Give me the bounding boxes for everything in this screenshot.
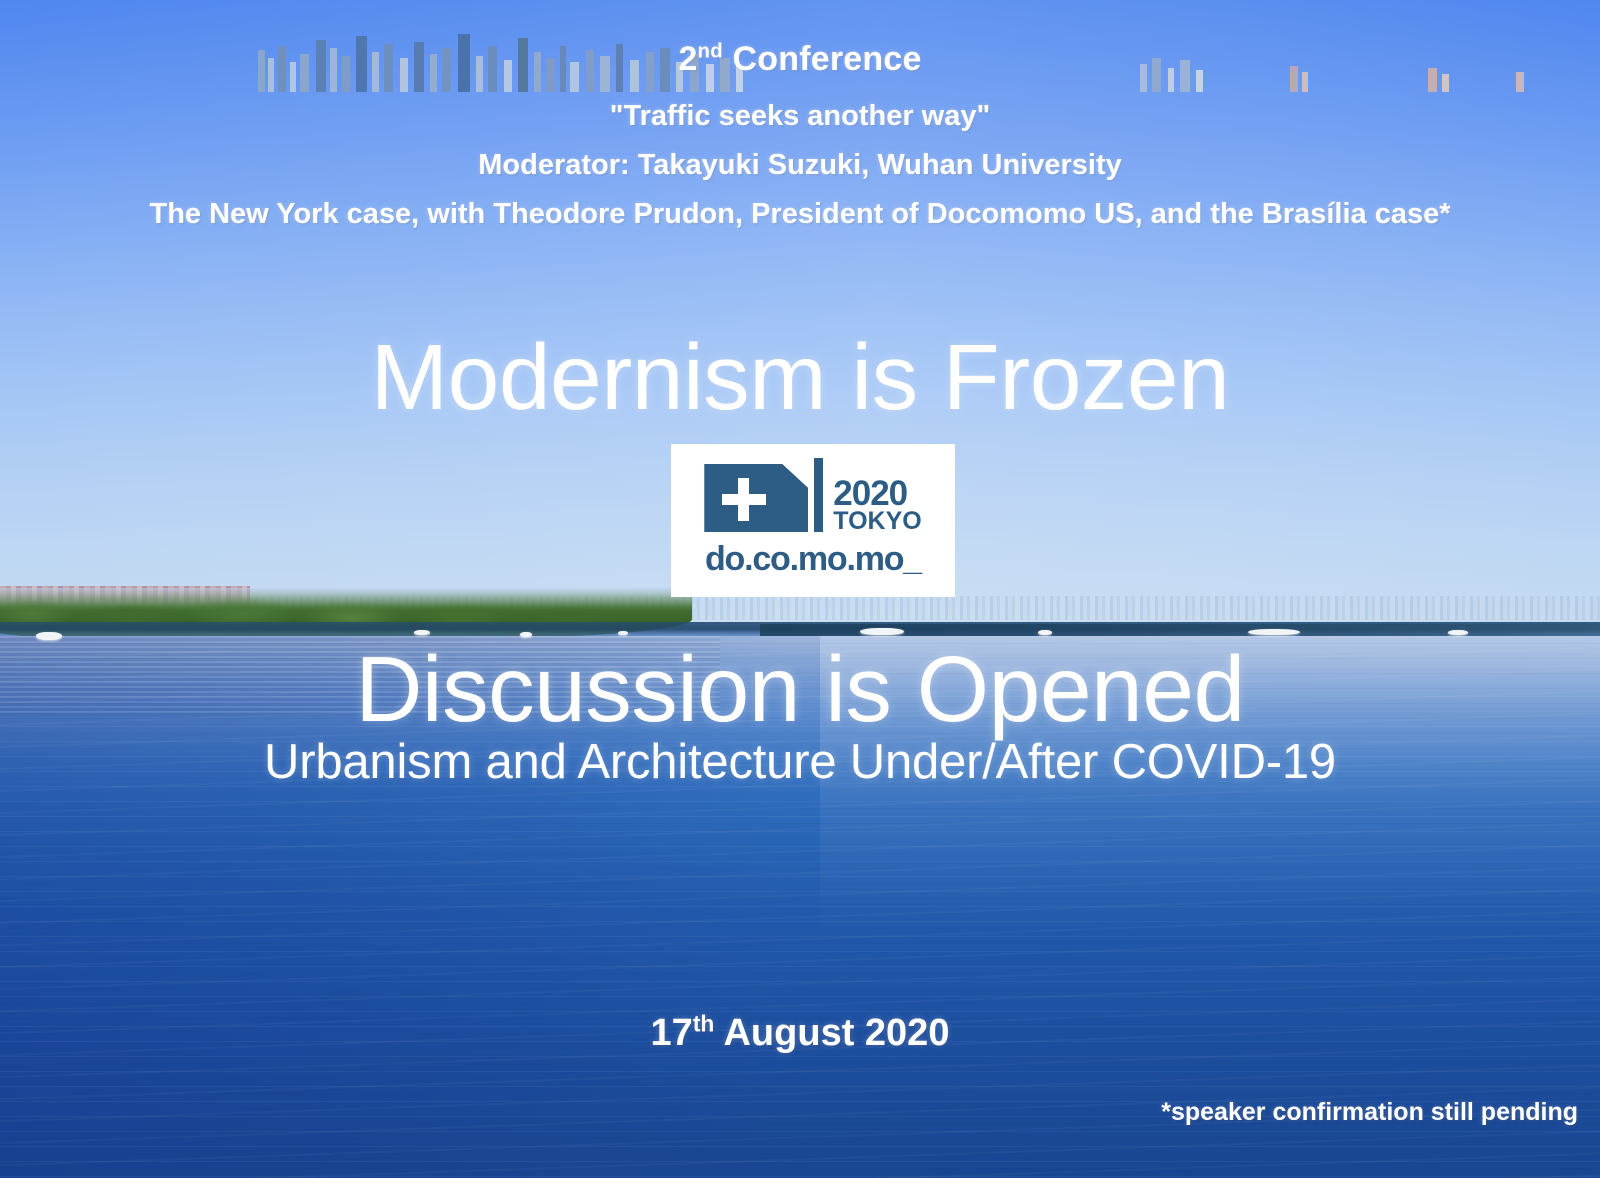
presentation-slide: 2nd Conference "Traffic seeks another wa… <box>0 0 1600 1178</box>
plus-flag-icon <box>704 464 808 532</box>
page-subtitle: Urbanism and Architecture Under/After CO… <box>0 734 1600 790</box>
event-date-rest: August 2020 <box>714 1012 949 1054</box>
boat-icon <box>414 630 430 635</box>
boat-icon <box>1248 629 1300 635</box>
event-date-ordinal: th <box>693 1010 715 1036</box>
header-line-cases: The New York case, with Theodore Prudon,… <box>0 198 1600 231</box>
event-date-day: 17 <box>651 1012 693 1054</box>
boat-icon <box>1448 630 1468 635</box>
footnote-speaker-pending: *speaker confirmation still pending <box>1161 1098 1578 1127</box>
docomomo-tokyo-2020-logo: 2020 TOKYO do.co.mo.mo_ <box>671 444 955 597</box>
header-conference-number: 2 <box>678 40 697 78</box>
boat-icon <box>860 628 904 635</box>
event-date: 17th August 2020 <box>0 1012 1600 1055</box>
boat-icon <box>618 631 628 635</box>
boat-icon <box>1038 630 1052 635</box>
island-haze <box>0 588 700 606</box>
plus-vertical-bar <box>738 478 749 521</box>
logo-symbol-row: 2020 TOKYO <box>704 464 921 536</box>
logo-wordmark: do.co.mo.mo_ <box>705 540 921 579</box>
flag-notch <box>782 464 808 488</box>
header-line-moderator: Moderator: Takayuki Suzuki, Wuhan Univer… <box>0 149 1600 182</box>
logo-year-city: 2020 TOKYO <box>833 478 921 533</box>
numeral-one-icon <box>814 458 823 532</box>
page-title-modernism: Modernism is Frozen <box>0 324 1600 431</box>
page-title-discussion: Discussion is Opened <box>0 636 1600 743</box>
header-line-conference: 2nd Conference <box>0 40 1600 79</box>
logo-city-text: TOKYO <box>833 510 921 533</box>
header-conference-word: Conference <box>723 40 922 78</box>
logo-year-text: 2020 <box>833 478 907 510</box>
header-line-theme: "Traffic seeks another way" <box>0 100 1600 133</box>
header-conference-ordinal: nd <box>698 41 723 63</box>
